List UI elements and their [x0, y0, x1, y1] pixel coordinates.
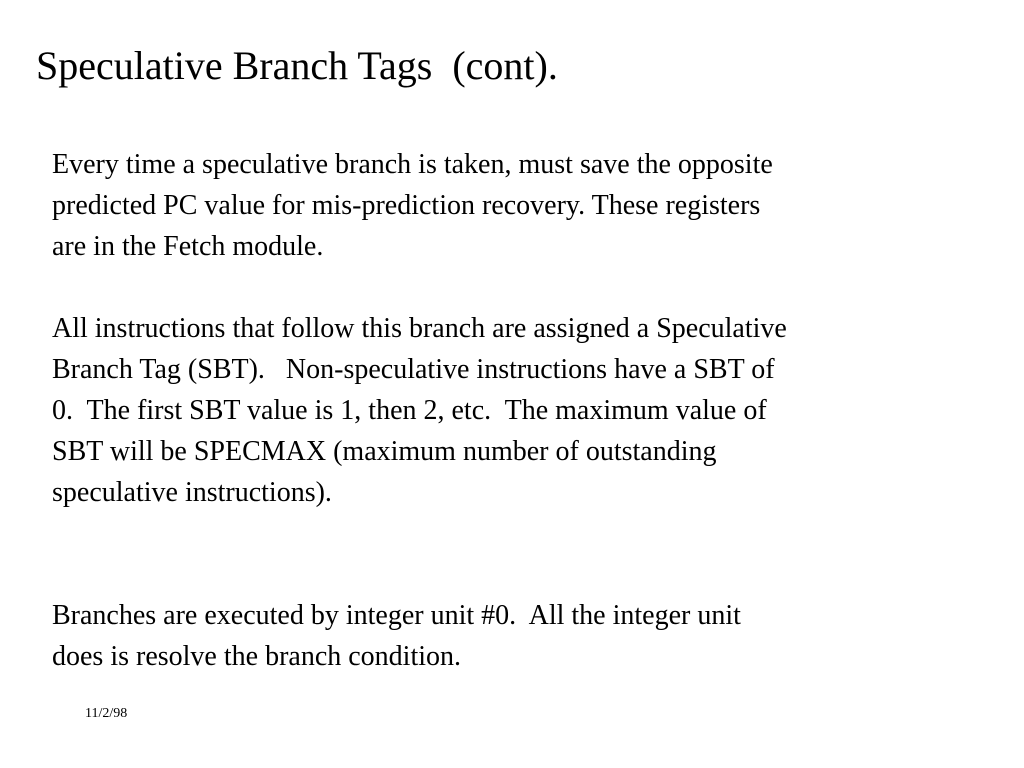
footer-date: 11/2/98: [85, 705, 127, 723]
page-title: Speculative Branch Tags (cont).: [36, 42, 986, 90]
body-paragraph-2: All instructions that follow this branch…: [52, 308, 972, 513]
body-paragraph-3: Branches are executed by integer unit #0…: [52, 595, 972, 677]
slide-canvas: Speculative Branch Tags (cont). Every ti…: [0, 0, 1024, 768]
body-paragraph-1: Every time a speculative branch is taken…: [52, 144, 972, 267]
slide-body: Every time a speculative branch is taken…: [52, 144, 972, 677]
